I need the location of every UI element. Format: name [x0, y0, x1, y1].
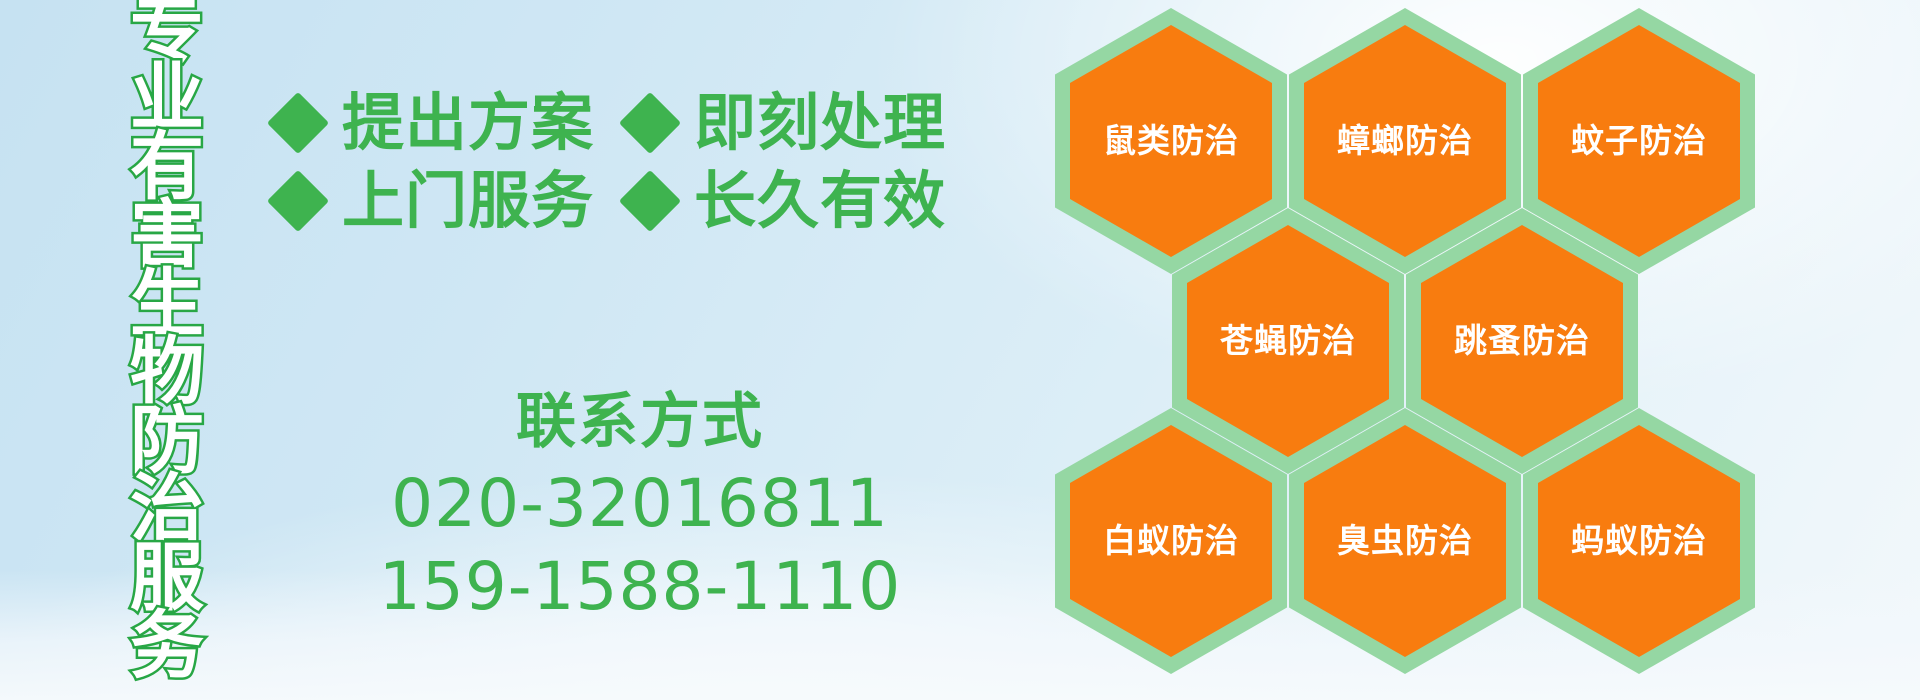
- diamond-icon: [619, 170, 681, 232]
- phone-mobile[interactable]: 159-1588-1110: [330, 546, 950, 629]
- hex-label: 白蚁防治: [1103, 523, 1239, 559]
- hex-inner: 鼠类防治: [1070, 25, 1272, 257]
- hex-inner: 跳蚤防治: [1421, 225, 1623, 457]
- feature-list: 提出方案 即刻处理 上门服务 长久有效: [276, 92, 946, 248]
- vertical-title-char: 生: [130, 270, 204, 338]
- feature-row: 上门服务 长久有效: [276, 170, 946, 232]
- diamond-icon: [267, 170, 329, 232]
- feature-item-onsite-service: 上门服务: [276, 170, 594, 232]
- hex-inner: 蚂蚁防治: [1538, 425, 1740, 657]
- feature-item-propose-plan: 提出方案: [276, 92, 594, 154]
- vertical-title-char: 务: [130, 612, 204, 680]
- hex-label: 苍蝇防治: [1220, 323, 1356, 359]
- vertical-title-char: 物: [130, 338, 204, 406]
- service-honeycomb: 鼠类防治 蟑螂防治 蚊子防治 苍蝇防治 跳蚤防治 白蚁防治: [1055, 8, 1815, 678]
- feature-row: 提出方案 即刻处理: [276, 92, 946, 154]
- hex-label: 蟑螂防治: [1337, 123, 1473, 159]
- vertical-title-char: 防: [130, 407, 204, 475]
- promo-banner: 专 业 有 害 生 物 防 治 服 务 提出方案 即刻处理 上门服务: [0, 0, 1920, 700]
- diamond-icon: [267, 92, 329, 154]
- hex-inner: 苍蝇防治: [1187, 225, 1389, 457]
- hex-label: 蚂蚁防治: [1571, 523, 1707, 559]
- hex-inner: 蚊子防治: [1538, 25, 1740, 257]
- hex-label: 臭虫防治: [1337, 523, 1473, 559]
- vertical-title-char: 害: [130, 201, 204, 269]
- feature-item-long-lasting: 长久有效: [628, 170, 946, 232]
- contact-title: 联系方式: [330, 388, 950, 457]
- diamond-icon: [619, 92, 681, 154]
- hex-inner: 臭虫防治: [1304, 425, 1506, 657]
- feature-label: 提出方案: [342, 92, 594, 154]
- vertical-title-char: 治: [130, 475, 204, 543]
- hex-inner: 蟑螂防治: [1304, 25, 1506, 257]
- feature-label: 长久有效: [694, 170, 946, 232]
- feature-label: 上门服务: [342, 170, 594, 232]
- feature-item-immediate-handling: 即刻处理: [628, 92, 946, 154]
- hex-label: 鼠类防治: [1103, 123, 1239, 159]
- vertical-title-char: 服: [130, 544, 204, 612]
- contact-block: 联系方式 020-32016811 159-1588-1110: [330, 388, 950, 628]
- vertical-title-char: 业: [130, 64, 204, 132]
- hex-label: 蚊子防治: [1571, 123, 1707, 159]
- hex-label: 跳蚤防治: [1454, 323, 1590, 359]
- vertical-title: 专 业 有 害 生 物 防 治 服 务: [108, 0, 226, 696]
- feature-label: 即刻处理: [694, 92, 946, 154]
- hex-inner: 白蚁防治: [1070, 425, 1272, 657]
- phone-landline[interactable]: 020-32016811: [330, 463, 950, 546]
- vertical-title-char: 有: [130, 133, 204, 201]
